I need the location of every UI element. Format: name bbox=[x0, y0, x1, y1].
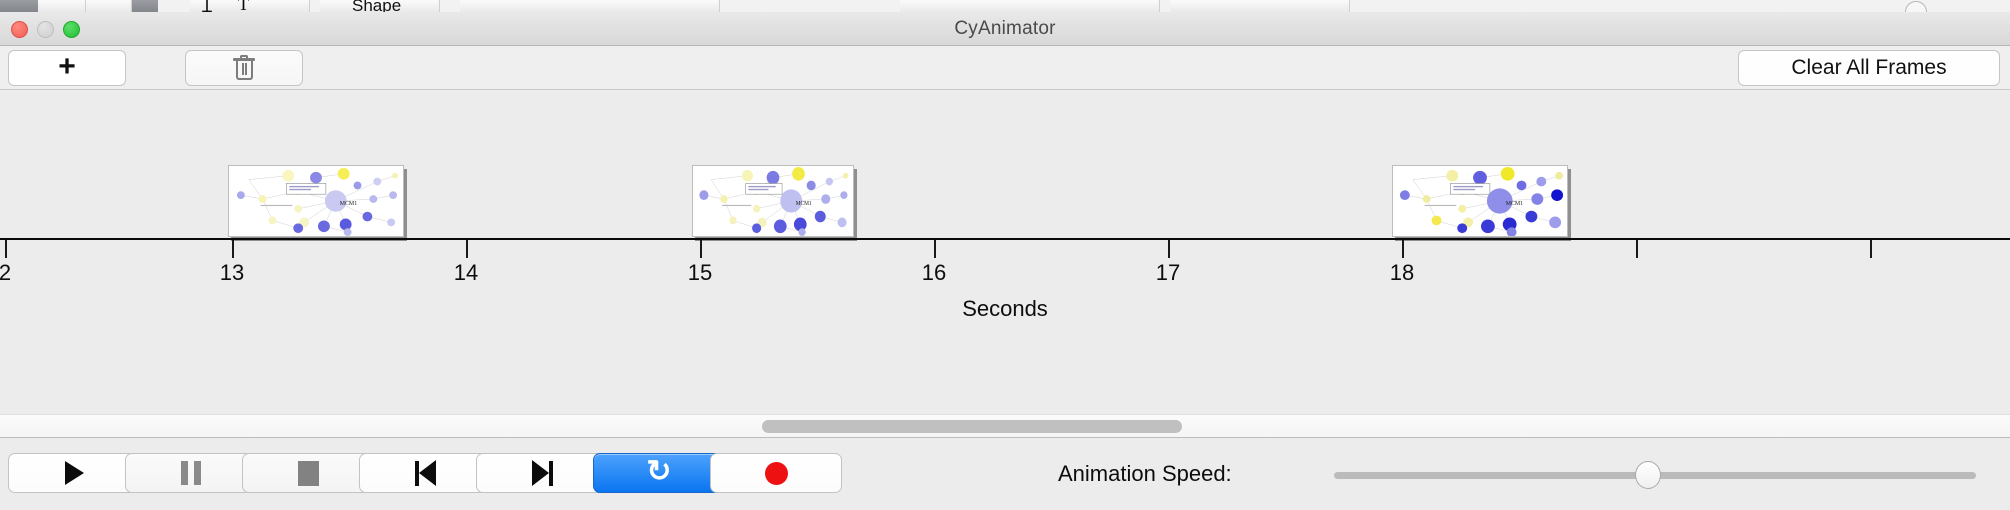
bg-window-label: Shape bbox=[352, 0, 401, 12]
axis-tick bbox=[232, 240, 234, 258]
axis-tick-label: 18 bbox=[1390, 260, 1414, 286]
axis-tick bbox=[1870, 240, 1872, 258]
timeline-frame-thumbnail[interactable]: MCM1 bbox=[1392, 165, 1568, 237]
delete-frame-button[interactable] bbox=[185, 50, 303, 86]
axis-tick-label: 14 bbox=[454, 260, 478, 286]
timeline-frame-thumbnail[interactable]: MCM1 bbox=[228, 165, 404, 237]
play-icon bbox=[65, 461, 84, 485]
window-title: CyAnimator bbox=[0, 18, 2010, 40]
axis-tick bbox=[700, 240, 702, 258]
playback-control-bar: ↻ Animation Speed: bbox=[0, 440, 2010, 510]
scrollbar-thumb[interactable] bbox=[762, 420, 1182, 433]
skip-forward-icon bbox=[532, 460, 553, 486]
axis-tick-label: 2 bbox=[0, 260, 11, 286]
timeline-axis[interactable]: 2 13 14 15 16 17 18 Seconds bbox=[0, 238, 2010, 343]
axis-tick-label: 16 bbox=[922, 260, 946, 286]
axis-line bbox=[0, 238, 2010, 240]
cyanimator-window: Ʇ Ƭ Shape CyAnimator + Clear All Frames bbox=[0, 0, 2010, 510]
svg-text:MCM1: MCM1 bbox=[340, 201, 358, 207]
axis-tick-label: 17 bbox=[1156, 260, 1180, 286]
bg-circle-control bbox=[1905, 1, 1927, 12]
axis-tick bbox=[934, 240, 936, 258]
svg-text:MCM1: MCM1 bbox=[1506, 201, 1524, 207]
bg-dark-block bbox=[0, 0, 38, 12]
plus-icon: + bbox=[58, 52, 76, 82]
axis-tick bbox=[466, 240, 468, 258]
titlebar: CyAnimator bbox=[0, 12, 2010, 46]
skip-to-start-button[interactable] bbox=[359, 453, 491, 493]
bg-tab bbox=[900, 0, 1160, 12]
toolbar: + Clear All Frames bbox=[0, 46, 2010, 90]
bg-tab bbox=[86, 0, 132, 12]
axis-tick bbox=[1636, 240, 1638, 258]
axis-tick-label: 13 bbox=[220, 260, 244, 286]
loop-button[interactable]: ↻ bbox=[593, 453, 725, 493]
pause-button[interactable] bbox=[125, 453, 257, 493]
stop-button[interactable] bbox=[242, 453, 374, 493]
bg-tab bbox=[1170, 0, 1350, 12]
bg-tab bbox=[460, 0, 720, 12]
axis-title: Seconds bbox=[0, 296, 2010, 322]
axis-tick-label: 15 bbox=[688, 260, 712, 286]
bg-dark-block bbox=[132, 0, 158, 12]
skip-back-icon bbox=[415, 460, 436, 486]
axis-tick bbox=[1402, 240, 1404, 258]
network-graph-thumbnail: MCM1 bbox=[229, 166, 403, 236]
axis-tick bbox=[1168, 240, 1170, 258]
loop-icon: ↻ bbox=[646, 457, 671, 487]
add-frame-button[interactable]: + bbox=[8, 50, 126, 86]
pause-icon bbox=[181, 461, 201, 485]
bg-tab bbox=[38, 0, 86, 12]
axis-tick bbox=[5, 240, 7, 258]
slider-knob[interactable] bbox=[1635, 461, 1661, 489]
record-icon bbox=[765, 462, 788, 485]
svg-text:MCM1: MCM1 bbox=[796, 201, 812, 207]
animation-speed-label: Animation Speed: bbox=[1058, 461, 1232, 487]
clear-all-frames-label: Clear All Frames bbox=[1791, 56, 1946, 80]
background-window-strip: Ʇ Ƭ Shape bbox=[0, 0, 2010, 12]
clear-all-frames-button[interactable]: Clear All Frames bbox=[1738, 50, 2000, 86]
record-button[interactable] bbox=[710, 453, 842, 493]
bg-glyph: Ʇ bbox=[202, 0, 212, 12]
skip-to-end-button[interactable] bbox=[476, 453, 608, 493]
network-graph-thumbnail: MCM1 bbox=[1393, 166, 1567, 236]
timeline-scrollbar[interactable] bbox=[0, 414, 2010, 438]
network-graph-thumbnail: MCM1 bbox=[693, 166, 853, 236]
play-button[interactable] bbox=[8, 453, 140, 493]
animation-speed-slider[interactable] bbox=[1334, 461, 1976, 489]
timeline-frame-thumbnail[interactable]: MCM1 bbox=[692, 165, 854, 237]
bg-glyph: Ƭ bbox=[238, 0, 249, 12]
stop-icon bbox=[298, 461, 319, 486]
trash-icon bbox=[233, 55, 255, 81]
